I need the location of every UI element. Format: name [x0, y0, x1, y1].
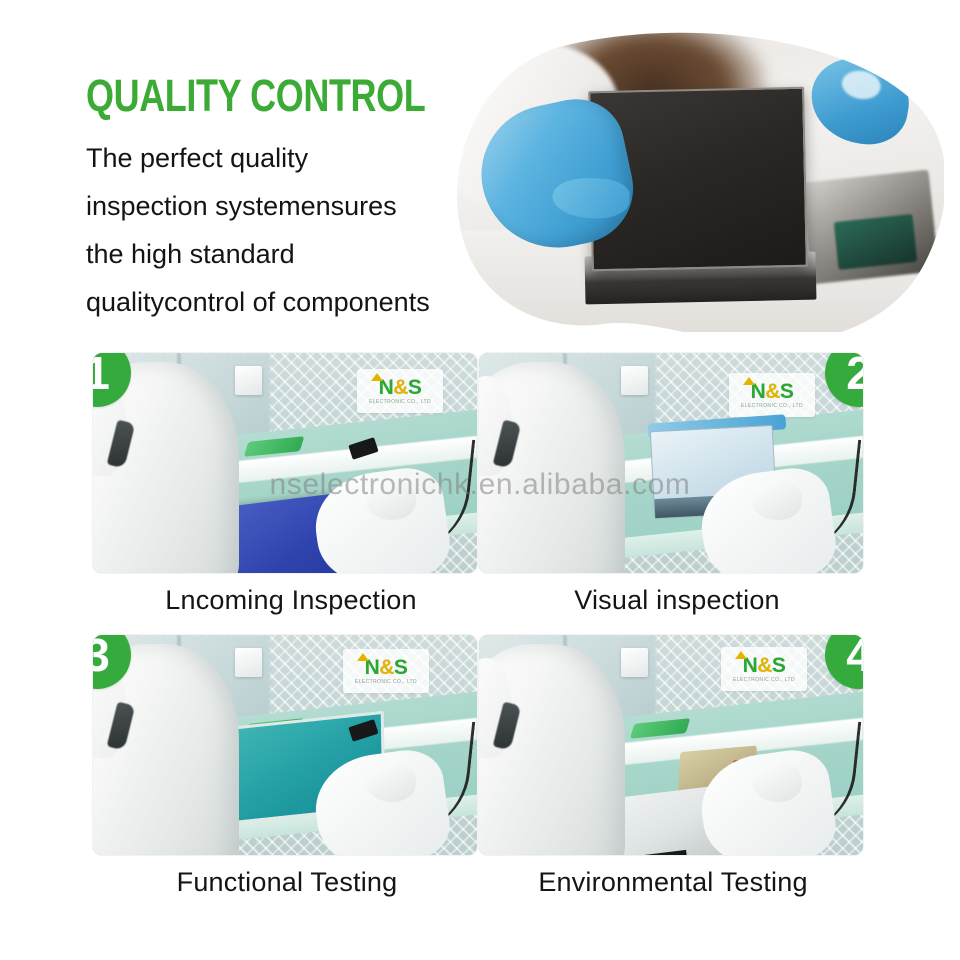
ns-logo-sticker: N&S ELECTRONIC CO., LTD [357, 369, 443, 413]
cleanroom-scene-4: N&S ELECTRONIC CO., LTD [479, 635, 863, 855]
hood-light-box [235, 648, 262, 677]
ns-logo-text: N&S [751, 381, 794, 402]
step-card-1: N&S ELECTRONIC CO., LTD 1 Lncomin [92, 352, 482, 616]
quality-control-infographic: QUALITY CONTROL The perfect quality insp… [0, 0, 960, 960]
header-description-line-1: The perfect quality [86, 134, 506, 182]
ns-roof-icon [371, 373, 383, 381]
step-caption-2: Visual inspection [478, 585, 868, 616]
step-card-2: N&S ELECTRONIC CO., LTD 2 Visual inspect… [478, 352, 868, 616]
cleanroom-scene-3: N&S ELECTRONIC CO., LTD [93, 635, 477, 855]
ns-logo-subtext: ELECTRONIC CO., LTD [369, 400, 431, 405]
header-description-line-4: qualitycontrol of components [86, 278, 506, 326]
operator-hand [366, 763, 416, 803]
header-text-block: QUALITY CONTROL The perfect quality insp… [86, 70, 506, 326]
hood-light-box [235, 366, 262, 395]
ns-roof-icon [743, 377, 755, 385]
step-caption-3: Functional Testing [92, 867, 482, 898]
cleanroom-scene-1: N&S ELECTRONIC CO., LTD [93, 353, 477, 573]
step-photo-4: N&S ELECTRONIC CO., LTD 4 [478, 634, 864, 856]
header-description: The perfect quality inspection systemens… [86, 134, 506, 326]
operator-hand [366, 481, 416, 521]
ns-logo-subtext: ELECTRONIC CO., LTD [733, 678, 795, 683]
step-photo-3: N&S ELECTRONIC CO., LTD 3 [92, 634, 478, 856]
cleanroom-operator [478, 362, 625, 574]
header-description-line-2: inspection systemensures [86, 182, 506, 230]
page-title: QUALITY CONTROL [86, 70, 422, 122]
hero-photo [452, 32, 944, 332]
ns-logo-subtext: ELECTRONIC CO., LTD [741, 404, 803, 409]
step-card-3: N&S ELECTRONIC CO., LTD 3 Functio [92, 634, 482, 898]
ns-roof-icon [357, 653, 369, 661]
ns-logo-sticker: N&S ELECTRONIC CO., LTD [729, 373, 815, 417]
step-caption-1: Lncoming Inspection [92, 585, 482, 616]
operator-hand [752, 481, 802, 521]
ns-roof-icon [735, 651, 747, 659]
step-caption-4: Environmental Testing [478, 867, 868, 898]
step-photo-1: N&S ELECTRONIC CO., LTD 1 [92, 352, 478, 574]
ns-logo-sticker: N&S ELECTRONIC CO., LTD [343, 649, 429, 693]
hood-light-box [621, 648, 648, 677]
ns-logo-subtext: ELECTRONIC CO., LTD [355, 680, 417, 685]
hood-light-box [621, 366, 648, 395]
step-card-4: N&S ELECTRONIC CO., LTD 4 Environ [478, 634, 868, 898]
ns-logo-text: N&S [743, 655, 786, 676]
ns-logo-sticker: N&S ELECTRONIC CO., LTD [721, 647, 807, 691]
hero-photo-equipment-screen [833, 214, 916, 270]
ns-logo-text: N&S [379, 377, 422, 398]
step-photo-2: N&S ELECTRONIC CO., LTD 2 [478, 352, 864, 574]
header-description-line-3: the high standard [86, 230, 506, 278]
cleanroom-operator [478, 644, 625, 856]
operator-hand [752, 763, 802, 803]
ns-logo-text: N&S [365, 657, 408, 678]
cleanroom-scene-2: N&S ELECTRONIC CO., LTD [479, 353, 863, 573]
